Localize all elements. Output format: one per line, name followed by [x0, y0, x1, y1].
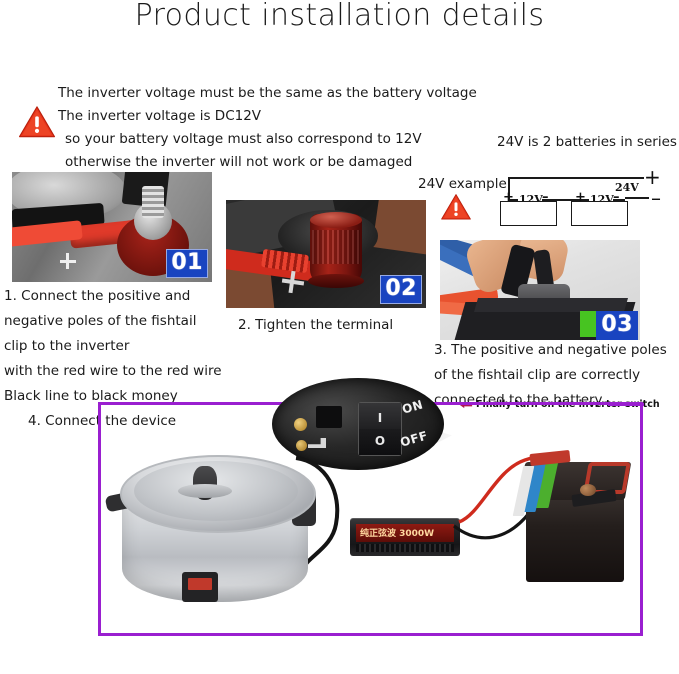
warning-triangle-icon: [18, 105, 56, 139]
callout-label-l: [308, 438, 326, 448]
warning-line-4: otherwise the inverter will not work or …: [58, 151, 477, 174]
step-1-caption: 1. Connect the positive and negative pol…: [4, 284, 222, 409]
step-3-badge: 03: [596, 311, 638, 340]
step-1-caption-line-2: negative poles of the fishtail: [4, 309, 222, 334]
warning-triangle-icon-2: [440, 193, 472, 221]
warning-line-1: The inverter voltage must be the same as…: [58, 82, 477, 105]
battery-right-cell: [571, 201, 628, 226]
callout-fuse-slot: [316, 406, 342, 428]
switch-on-label: ON: [400, 397, 424, 416]
inverter-model-text: 纯正弦波 3000W: [360, 526, 434, 539]
warning-line-2: The inverter voltage is DC12V: [58, 105, 477, 128]
series-output-plus: +: [644, 167, 661, 187]
infographic-page: Product installation details The inverte…: [0, 0, 679, 674]
step-2-photo: 02: [226, 200, 426, 308]
series-output-minus: –: [651, 188, 661, 208]
step-4-caption: 4. Connect the device: [28, 409, 176, 434]
page-title: Product installation details: [0, 0, 679, 33]
diagram-frame-left: [98, 402, 101, 636]
rice-cooker-switch-indicator: [188, 578, 212, 590]
step-1-caption-line-3: clip to the inverter: [4, 334, 222, 359]
step-1-badge: 01: [166, 249, 208, 278]
rice-cooker-knob-base: [178, 484, 232, 498]
step-2-badge: 02: [380, 275, 422, 304]
step-2-caption: 2. Tighten the terminal: [238, 313, 393, 338]
step-1-photo: 01: [12, 172, 212, 282]
step-4-caption-line-1: 4. Connect the device: [28, 409, 176, 434]
step-1-caption-line-1: 1. Connect the positive and: [4, 284, 222, 309]
step-1-caption-line-5: Black line to black money: [4, 384, 222, 409]
callout-terminal-gold-2: [296, 440, 307, 451]
battery-series-schematic: + 24V + 12V – + 12V – –: [492, 155, 677, 225]
rocker-off-glyph: O: [359, 435, 401, 447]
rocker-on-glyph: I: [359, 412, 401, 424]
inverter-vent-fins: [356, 544, 454, 552]
switch-off-label: OFF: [399, 428, 430, 449]
warning-line-3: so your battery voltage must also corres…: [58, 128, 477, 151]
diagram-frame-bottom: [98, 633, 643, 636]
battery-left-cell: [500, 201, 557, 226]
battery-terminal-post: [580, 484, 596, 496]
warning-text-block: The inverter voltage must be the same as…: [58, 82, 477, 174]
step-2-caption-line-1: 2. Tighten the terminal: [238, 313, 393, 338]
step-3-caption-line-2: of the fishtail clip are correctly: [434, 363, 667, 388]
step-1-caption-line-4: with the red wire to the red wire: [4, 359, 222, 384]
series-diagram-heading: 24V is 2 batteries in series: [497, 134, 677, 150]
step-3-photo: 03: [440, 240, 640, 340]
diagram-frame-right: [640, 403, 643, 636]
callout-terminal-gold: [294, 418, 307, 431]
step-3-caption-line-1: 3. The positive and negative poles: [434, 338, 667, 363]
rocker-switch[interactable]: I O: [358, 402, 402, 456]
diagram-frame-top-segment: [452, 402, 643, 405]
